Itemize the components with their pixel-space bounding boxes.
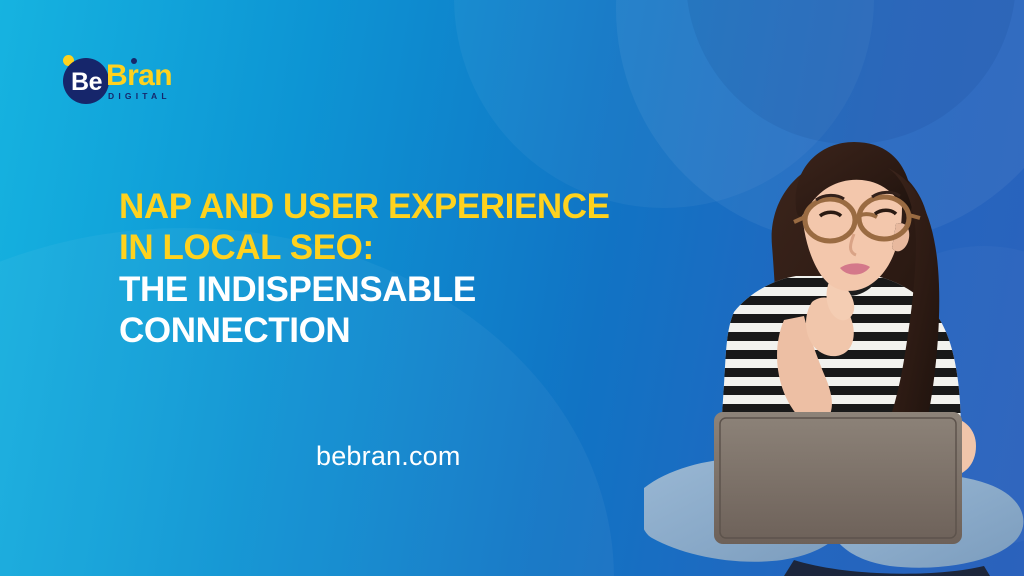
brand-logo[interactable]: Be Bran DIGITAL (56, 52, 172, 108)
logo-brand-text: Bran (106, 61, 172, 91)
logo-be-text: Be (56, 53, 110, 107)
person-photo (644, 116, 1024, 576)
headline-line-4: CONNECTION (119, 310, 679, 351)
be-bran-circle-logo-icon: Be (56, 53, 110, 107)
logo-tagline-text: DIGITAL (108, 92, 172, 101)
logo-wordmark: Bran DIGITAL (106, 59, 172, 101)
headline-block: NAP AND USER EXPERIENCE IN LOCAL SEO: TH… (119, 186, 679, 351)
laptop (714, 412, 962, 544)
headline-line-3: THE INDISPENSABLE (119, 269, 679, 310)
headline-line-2: IN LOCAL SEO: (119, 227, 679, 268)
headline-line-1: NAP AND USER EXPERIENCE (119, 186, 679, 227)
website-url[interactable]: bebran.com (316, 441, 461, 472)
promo-banner: Be Bran DIGITAL NAP AND USER EXPERIENCE … (0, 0, 1024, 576)
